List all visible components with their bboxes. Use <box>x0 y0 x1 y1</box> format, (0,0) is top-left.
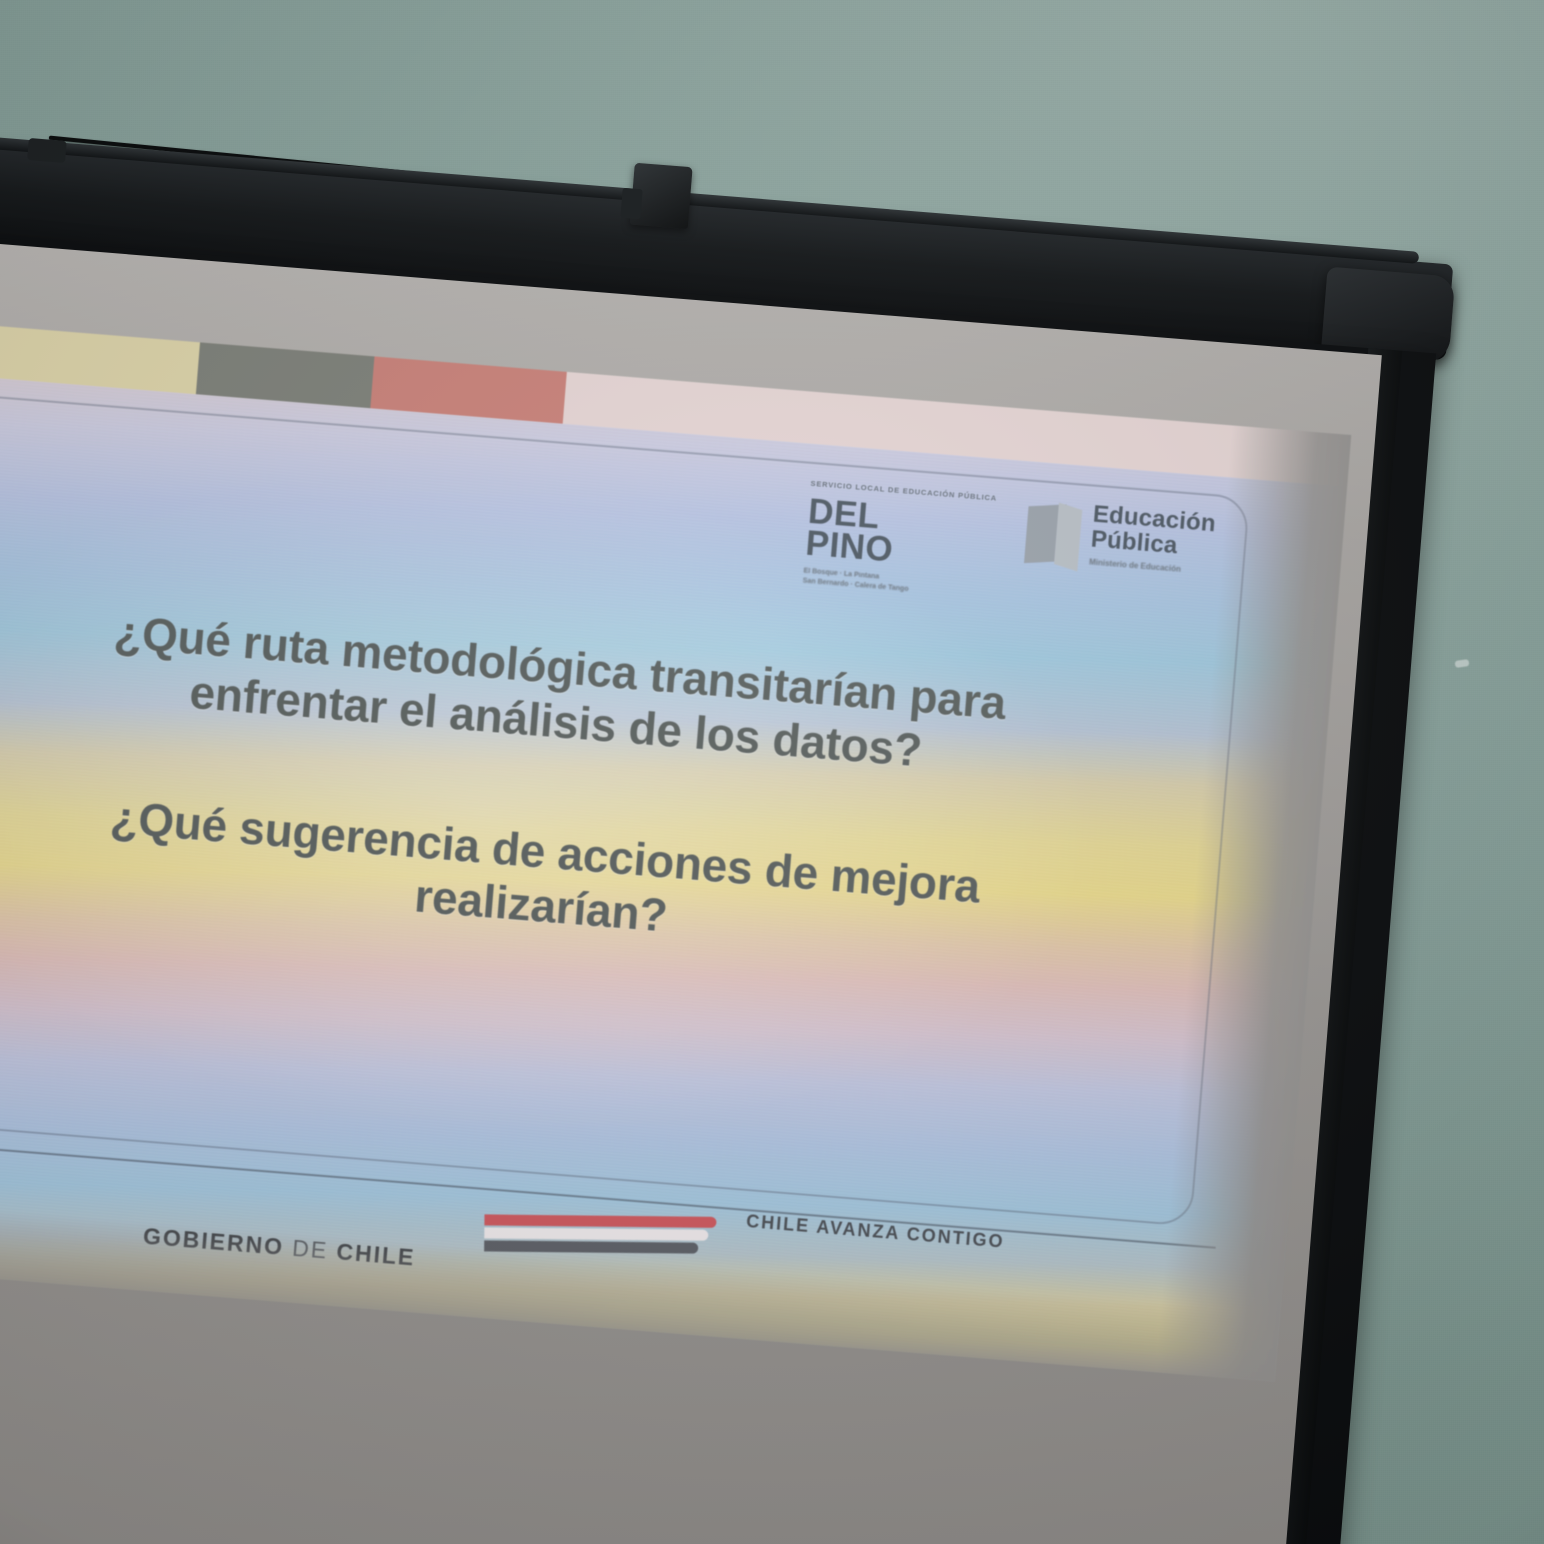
screen-wall-bracket <box>630 163 693 229</box>
ministry-subtitle: Ministerio de Educación <box>1089 558 1212 576</box>
screen-wall-bracket-left <box>27 138 67 163</box>
ministry-wordmark: Educación Pública Ministerio de Educació… <box>1089 503 1217 577</box>
projected-slide: SERVICIO LOCAL DE EDUCACIÓN PÚBLICA DEL … <box>0 320 1351 1382</box>
flag-stripe-red <box>484 1214 716 1227</box>
projector-screen-assembly: SERVICIO LOCAL DE EDUCACIÓN PÚBLICA DEL … <box>0 120 1485 1544</box>
slep-wordmark: DEL PINO <box>804 493 996 575</box>
educacion-publica-logo: Educación Pública Ministerio de Educació… <box>1023 497 1216 582</box>
room-scene: SERVICIO LOCAL DE EDUCACIÓN PÚBLICA DEL … <box>0 0 1544 1544</box>
slep-del-pino-logo: SERVICIO LOCAL DE EDUCACIÓN PÚBLICA DEL … <box>802 480 997 601</box>
flag-stripe-white <box>484 1227 708 1240</box>
open-book-icon <box>1023 497 1082 571</box>
